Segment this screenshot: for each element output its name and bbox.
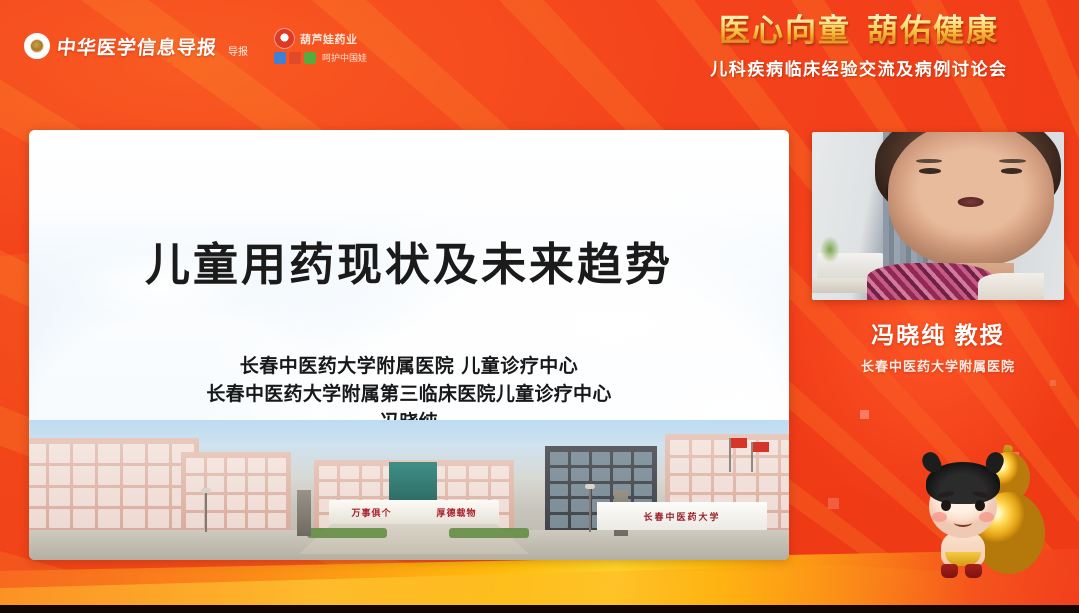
video-plant xyxy=(820,236,840,263)
event-banner: 医心向童葫佑健康 儿科疾病临床经验交流及病例讨论会 xyxy=(657,14,1061,80)
mascot-shoe-left xyxy=(941,564,958,578)
mascot-cheek-left xyxy=(932,512,947,522)
campus-building-center-glass xyxy=(389,462,437,500)
presentation-slide[interactable]: 儿童用药现状及未来趋势 长春中医药大学附属医院 儿童诊疗中心 长春中医药大学附属… xyxy=(29,130,789,560)
logo-cma-suffix: 导报 xyxy=(228,43,248,60)
video-person-collar xyxy=(978,273,1044,300)
speaker-organization: 长春中医药大学附属医院 xyxy=(812,356,1064,375)
logo-huluwa-name: 葫芦娃药业 xyxy=(300,31,358,47)
video-person-brow-left xyxy=(916,159,943,163)
slide-affiliation-line-1: 长春中医药大学附属医院 儿童诊疗中心 xyxy=(29,353,789,381)
stone-sign-text-right: 厚德载物 xyxy=(436,506,476,519)
brand-swatch-icon xyxy=(304,52,316,64)
event-banner-title-part2: 葫佑健康 xyxy=(867,13,999,49)
mascot-cheek-right xyxy=(979,512,994,522)
broadcast-stage: 中华医学信息导报 导报 葫芦娃药业 呵护中国娃 医心向童葫佑健康 儿科疾病临床经… xyxy=(0,0,1079,613)
presenter-video-feed[interactable] xyxy=(812,132,1064,300)
video-person-eye-right xyxy=(1001,168,1023,174)
campus-hedge xyxy=(307,528,387,538)
video-person-brow-right xyxy=(999,159,1026,163)
sparkle-dot xyxy=(1050,380,1056,386)
logo-huluwa-tagline: 呵护中国娃 xyxy=(322,51,367,64)
header-logo-row: 中华医学信息导报 导报 葫芦娃药业 呵护中国娃 xyxy=(24,28,367,64)
campus-stone-sign: 万事俱个 厚德载物 xyxy=(329,500,499,524)
bottom-letterbox-bar xyxy=(0,605,1079,613)
mascot-eye-left xyxy=(941,500,951,511)
campus-university-banner-text: 长春中医药大学 xyxy=(643,510,720,523)
slide-affiliation-line-2: 长春中医药大学附属第三临床医院儿童诊疗中心 xyxy=(29,381,789,409)
event-banner-title-part1: 医心向童 xyxy=(719,13,851,49)
speaker-name: 冯晓纯 教授 xyxy=(812,316,1064,350)
seal-emblem-icon xyxy=(24,33,50,59)
logo-cma-wordmark: 中华医学信息导报 xyxy=(56,33,219,60)
mascot-boy-figure xyxy=(919,454,1007,582)
speaker-caption: 冯晓纯 教授 长春中医药大学附属医院 xyxy=(812,316,1064,375)
campus-photo: 万事俱个 厚德载物 长春中医药大学 xyxy=(29,420,789,560)
mascot-shoe-right xyxy=(965,564,982,578)
video-person-head xyxy=(888,132,1054,266)
mascot-mouth xyxy=(954,518,972,527)
video-person-shirt xyxy=(867,263,993,300)
logo-chinese-medical-association: 中华医学信息导报 导报 xyxy=(24,33,248,60)
mascot-eye-right xyxy=(975,500,985,511)
campus-hedge xyxy=(449,528,529,538)
campus-building-left xyxy=(29,438,199,534)
brand-swatch-icon xyxy=(289,52,301,64)
sparkle-dot xyxy=(860,410,869,419)
brand-swatch-icon xyxy=(274,52,286,64)
gourd-brand-icon xyxy=(274,28,295,49)
campus-flag xyxy=(753,442,769,452)
event-banner-title: 医心向童葫佑健康 xyxy=(657,14,1061,50)
logo-huluwa-bottom: 呵护中国娃 xyxy=(274,51,367,64)
campus-lamppost xyxy=(205,492,207,532)
event-banner-subtitle: 儿科疾病临床经验交流及病例讨论会 xyxy=(657,55,1061,80)
sparkle-dot xyxy=(828,498,839,509)
campus-university-banner: 长春中医药大学 xyxy=(597,502,767,530)
video-person-eye-left xyxy=(919,168,941,174)
video-person-mouth xyxy=(957,197,984,207)
logo-huluwa-top: 葫芦娃药业 xyxy=(274,28,367,49)
stone-sign-text-left: 万事俱个 xyxy=(351,506,391,519)
calabash-boy-mascot xyxy=(915,440,1065,590)
logo-huluwa-pharma: 葫芦娃药业 呵护中国娃 xyxy=(274,28,367,64)
campus-building-left-2 xyxy=(181,452,291,534)
slide-title: 儿童用药现状及未来趋势 xyxy=(29,228,789,293)
campus-gate-pillar xyxy=(297,490,311,536)
campus-flag xyxy=(731,438,747,448)
campus-lamppost xyxy=(589,488,591,532)
